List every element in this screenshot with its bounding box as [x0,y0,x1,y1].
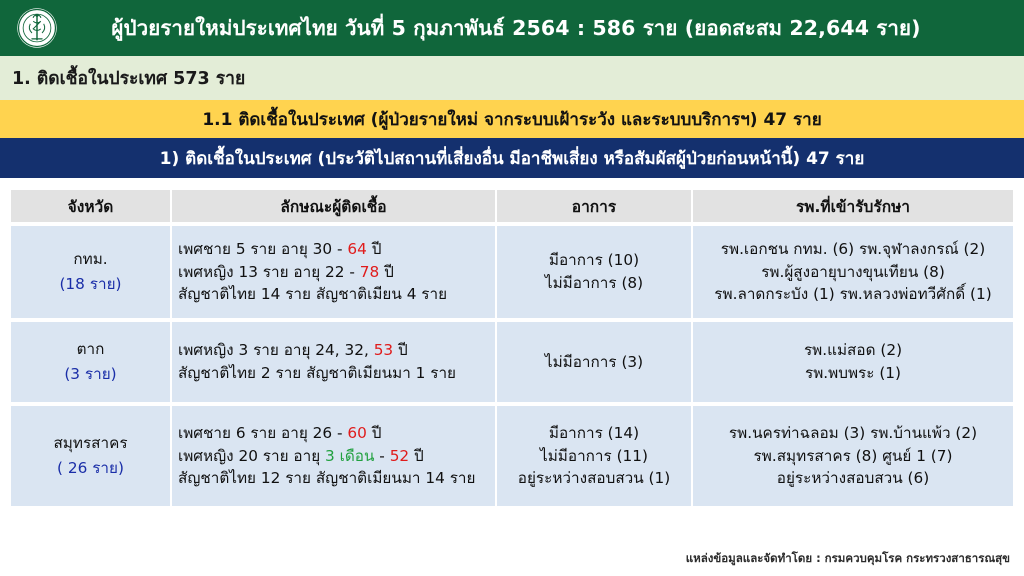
table-row: ตาก(3 ราย)เพศหญิง 3 ราย อายุ 24, 32, 53 … [11,322,1013,402]
profile-highlight-red: 60 [347,424,366,442]
profile-line: สัญชาติไทย 12 ราย สัญชาติเมียนมา 14 ราย [178,467,489,490]
table-header-row: จังหวัด ลักษณะผู้ติดเชื้อ อาการ รพ.ที่เข… [11,190,1013,222]
case-table-body: กทม.(18 ราย)เพศชาย 5 ราย อายุ 30 - 64 ปี… [11,226,1013,506]
section-risk-contact-label: 1) ติดเชื้อในประเทศ (ประวัติไปสถานที่เสี… [160,145,865,172]
cell-hospitals: รพ.แม่สอด (2)รพ.พบพระ (1) [693,322,1013,402]
profile-text: ปี [379,263,394,281]
profile-highlight-red: 78 [360,263,379,281]
profile-line: เพศหญิง 13 ราย อายุ 22 - 78 ปี [178,261,489,284]
profile-text: สัญชาติไทย 12 ราย สัญชาติเมียนมา 14 ราย [178,469,475,487]
profile-line: เพศชาย 5 ราย อายุ 30 - 64 ปี [178,238,489,261]
profile-text: - [374,447,389,465]
hospital-line: รพ.เอกชน กทม. (6) รพ.จุฬาลงกรณ์ (2) [699,238,1007,261]
symptom-line: มีอาการ (10) [503,249,685,272]
column-header-symptoms: อาการ [497,190,693,222]
province-name: ตาก [17,338,164,361]
profile-text: เพศหญิง 13 ราย อายุ 22 - [178,263,360,281]
case-table-header: จังหวัด ลักษณะผู้ติดเชื้อ อาการ รพ.ที่เข… [11,190,1013,222]
cell-hospitals: รพ.นครท่าฉลอม (3) รพ.บ้านแพ้ว (2)รพ.สมุท… [693,406,1013,506]
profile-text: เพศชาย 5 ราย อายุ 30 - [178,240,347,258]
cell-province: กทม.(18 ราย) [11,226,172,318]
profile-line: เพศชาย 6 ราย อายุ 26 - 60 ปี [178,422,489,445]
cell-symptoms: มีอาการ (10)ไม่มีอาการ (8) [497,226,693,318]
moph-caduceus-emblem-icon [16,7,58,49]
column-header-hospitals: รพ.ที่เข้ารับรักษา [693,190,1013,222]
profile-highlight-red: 53 [374,341,393,359]
hospital-line: รพ.ลาดกระบัง (1) รพ.หลวงพ่อทวีศักดิ์ (1) [699,283,1007,306]
profile-line: สัญชาติไทย 14 ราย สัญชาติเมียน 4 ราย [178,283,489,306]
hospital-line: รพ.แม่สอด (2) [699,339,1007,362]
hospital-line: อยู่ระหว่างสอบสวน (6) [699,467,1007,490]
profile-text: สัญชาติไทย 2 ราย สัญชาติเมียนมา 1 ราย [178,364,456,382]
profile-line: สัญชาติไทย 2 ราย สัญชาติเมียนมา 1 ราย [178,362,489,385]
province-case-count: (3 ราย) [17,363,164,386]
hospital-line: รพ.พบพระ (1) [699,362,1007,385]
source-attribution: แหล่งข้อมูลและจัดทำโดย : กรมควบคุมโรค กร… [686,550,1010,568]
column-header-profile: ลักษณะผู้ติดเชื้อ [172,190,497,222]
profile-highlight-green: 3 เดือน [325,447,374,465]
section-domestic-total-label: 1. ติดเชื้อในประเทศ 573 ราย [12,64,245,92]
province-case-count: ( 26 ราย) [17,457,164,480]
profile-text: เพศชาย 6 ราย อายุ 26 - [178,424,347,442]
cell-province: สมุทรสาคร( 26 ราย) [11,406,172,506]
hospital-line: รพ.นครท่าฉลอม (3) รพ.บ้านแพ้ว (2) [699,422,1007,445]
profile-highlight-red: 64 [347,240,366,258]
cell-infection-profile: เพศชาย 6 ราย อายุ 26 - 60 ปีเพศหญิง 20 ร… [172,406,497,506]
profile-text: สัญชาติไทย 14 ราย สัญชาติเมียน 4 ราย [178,285,447,303]
profile-text: ปี [367,424,382,442]
profile-line: เพศหญิง 20 ราย อายุ 3 เดือน - 52 ปี [178,445,489,468]
symptom-line: ไม่มีอาการ (3) [503,351,685,374]
profile-text: ปี [393,341,408,359]
hospital-line: รพ.ผู้สูงอายุบางขุนเทียน (8) [699,261,1007,284]
cell-province: ตาก(3 ราย) [11,322,172,402]
province-case-count: (18 ราย) [17,273,164,296]
symptom-line: อยู่ระหว่างสอบสวน (1) [503,467,685,490]
section-domestic-total: 1. ติดเชื้อในประเทศ 573 ราย [0,56,1024,100]
profile-text: เพศหญิง 20 ราย อายุ [178,447,325,465]
case-table-container: จังหวัด ลักษณะผู้ติดเชื้อ อาการ รพ.ที่เข… [0,178,1024,510]
profile-text: ปี [367,240,382,258]
section-risk-contact: 1) ติดเชื้อในประเทศ (ประวัติไปสถานที่เสี… [0,138,1024,178]
profile-line: เพศหญิง 3 ราย อายุ 24, 32, 53 ปี [178,339,489,362]
section-surveillance: 1.1 ติดเชื้อในประเทศ (ผู้ป่วยรายใหม่ จาก… [0,100,1024,138]
province-name: สมุทรสาคร [17,432,164,455]
profile-text: เพศหญิง 3 ราย อายุ 24, 32, [178,341,374,359]
profile-text: ปี [409,447,424,465]
profile-highlight-red: 52 [390,447,409,465]
page-header: ผู้ป่วยรายใหม่ประเทศไทย วันที่ 5 กุมภาพั… [0,0,1024,56]
table-row: สมุทรสาคร( 26 ราย)เพศชาย 6 ราย อายุ 26 -… [11,406,1013,506]
cell-infection-profile: เพศชาย 5 ราย อายุ 30 - 64 ปีเพศหญิง 13 ร… [172,226,497,318]
symptom-line: ไม่มีอาการ (11) [503,445,685,468]
section-surveillance-label: 1.1 ติดเชื้อในประเทศ (ผู้ป่วยรายใหม่ จาก… [202,106,821,133]
table-row: กทม.(18 ราย)เพศชาย 5 ราย อายุ 30 - 64 ปี… [11,226,1013,318]
hospital-line: รพ.สมุทรสาคร (8) ศูนย์ 1 (7) [699,445,1007,468]
symptom-line: ไม่มีอาการ (8) [503,272,685,295]
cell-infection-profile: เพศหญิง 3 ราย อายุ 24, 32, 53 ปีสัญชาติไ… [172,322,497,402]
cell-symptoms: มีอาการ (14)ไม่มีอาการ (11)อยู่ระหว่างสอ… [497,406,693,506]
case-table: จังหวัด ลักษณะผู้ติดเชื้อ อาการ รพ.ที่เข… [11,186,1013,510]
column-header-province: จังหวัด [11,190,172,222]
province-name: กทม. [17,248,164,271]
cell-symptoms: ไม่มีอาการ (3) [497,322,693,402]
symptom-line: มีอาการ (14) [503,422,685,445]
page-title: ผู้ป่วยรายใหม่ประเทศไทย วันที่ 5 กุมภาพั… [64,16,1016,41]
cell-hospitals: รพ.เอกชน กทม. (6) รพ.จุฬาลงกรณ์ (2)รพ.ผู… [693,226,1013,318]
